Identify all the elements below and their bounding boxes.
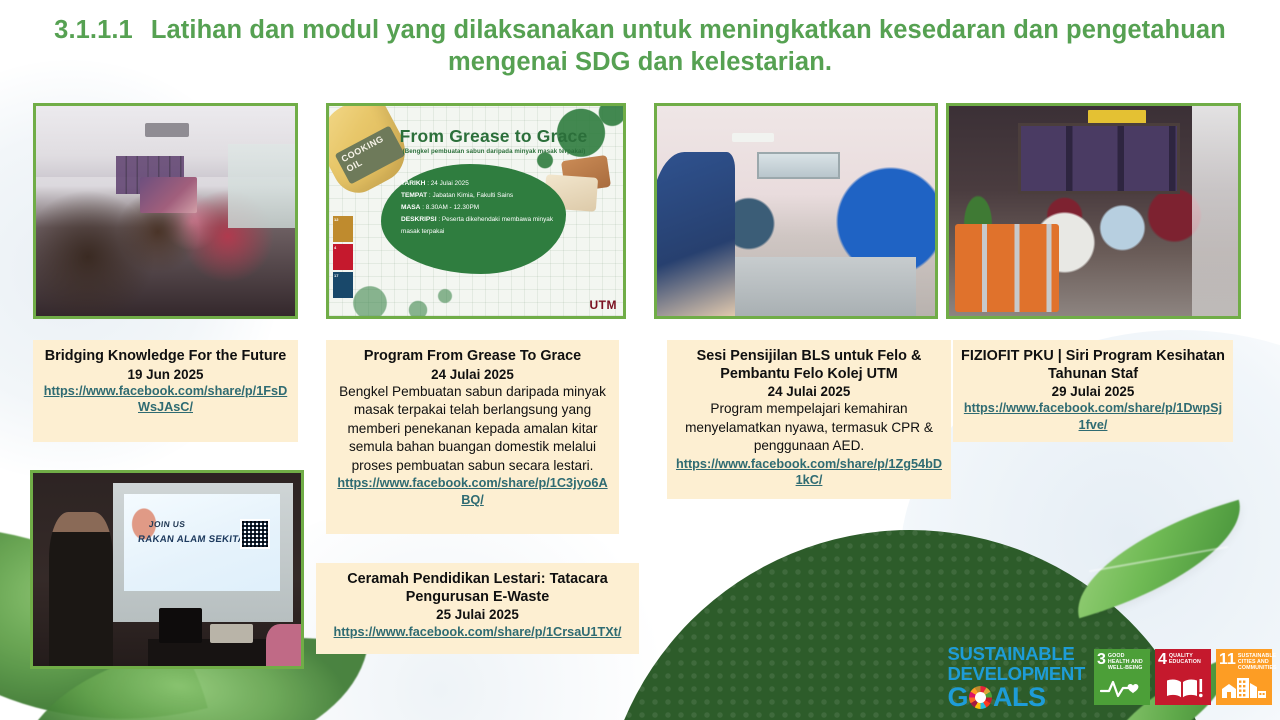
open-book-icon xyxy=(1155,675,1211,701)
sdg-wordmark-als: ALS xyxy=(993,684,1046,710)
caption-title-2: Program From Grease To Grace xyxy=(334,348,611,366)
caption-link-3[interactable]: https://www.facebook.com/share/p/1Zg54bD… xyxy=(675,456,943,489)
poster-field-tempat-label: TEMPAT xyxy=(401,192,427,199)
poster-sdg-4-icon: 4 xyxy=(333,244,353,270)
sdg-goal-3-tile: 3 GOOD HEALTH AND WELL-BEING xyxy=(1094,649,1150,705)
poster-field-deskripsi: DESKRIPSI : Peserta dikehendaki membawa … xyxy=(401,214,571,238)
photo-5-slide-line2: RAKAN ALAM SEKITAR xyxy=(137,535,252,545)
heartbeat-icon xyxy=(1094,675,1150,701)
photo-bridging-knowledge xyxy=(33,103,298,319)
caption-title-1: Bridging Knowledge For the Future xyxy=(41,348,290,366)
photo-4-image xyxy=(949,106,1238,316)
city-buildings-icon xyxy=(1216,675,1272,701)
caption-title-4: FIZIOFIT PKU | Siri Program Kesihatan Ta… xyxy=(961,348,1225,383)
photo-1-projector xyxy=(145,123,189,138)
poster-field-tempat-value: : Jabatan Kimia, Fakulti Sains xyxy=(429,192,513,199)
caption-card-e-waste: Ceramah Pendidikan Lestari: Tatacara Pen… xyxy=(316,563,639,654)
sdg-footer: SUSTAINABLE DEVELOPMENT G ALS 3 GOOD HEA… xyxy=(947,646,1272,708)
photo-3-foreground-person xyxy=(654,152,735,316)
photo-4-chairs xyxy=(955,224,1059,312)
caption-date-3: 24 Julai 2025 xyxy=(675,383,943,400)
page-title-number: 3.1.1.1 xyxy=(54,16,133,44)
photo-5-audience xyxy=(266,624,301,666)
poster-sdg-17-icon: 17 xyxy=(333,272,353,298)
page-title-text: Latihan dan modul yang dilaksanakan untu… xyxy=(151,16,1226,76)
sdg-wordmark-g: G xyxy=(947,684,968,710)
caption-card-fiziofit: FIZIOFIT PKU | Siri Program Kesihatan Ta… xyxy=(953,340,1233,442)
poster-field-tarikh-label: TARIKH xyxy=(401,180,425,187)
poster-field-tempat: TEMPAT : Jabatan Kimia, Fakulti Sains xyxy=(401,190,571,202)
photo-5-table xyxy=(148,639,266,666)
caption-card-bls: Sesi Pensijilan BLS untuk Felo & Pembant… xyxy=(667,340,951,499)
poster-utm-logo: UTM xyxy=(590,298,618,312)
photo-3-ceiling-light xyxy=(732,133,774,141)
caption-link-2[interactable]: https://www.facebook.com/share/p/1C3jyo6… xyxy=(334,475,611,508)
slide-canvas: 3.1.1.1Latihan dan modul yang dilaksanak… xyxy=(0,0,1280,720)
sdg-wordmark-line1: SUSTAINABLE xyxy=(947,644,1085,664)
poster-artwork: COOKING OIL From Grease to Grace (Bengke… xyxy=(329,106,623,316)
photo-fiziofit-pku xyxy=(946,103,1241,319)
photo-1-image xyxy=(36,106,295,316)
photo-3-image xyxy=(657,106,935,316)
caption-link-1[interactable]: https://www.facebook.com/share/p/1FsDWsJ… xyxy=(41,383,290,416)
poster-subhead: (Bengkel pembuatan sabun daripada minyak… xyxy=(389,148,599,155)
photo-5-laptop xyxy=(159,608,202,643)
sdg-goal-4-tile: 4 QUALITY EDUCATION xyxy=(1155,649,1211,705)
photo-5-projected-slide: JOIN US RAKAN ALAM SEKITAR xyxy=(124,494,279,591)
caption-card-bridging-knowledge: Bridging Knowledge For the Future 19 Jun… xyxy=(33,340,298,442)
caption-link-4[interactable]: https://www.facebook.com/share/p/1DwpSj1… xyxy=(961,400,1225,433)
caption-description-3: Program mempelajari kemahiran menyelamat… xyxy=(675,400,943,456)
photo-bls-certification xyxy=(654,103,938,319)
sdg-wordmark: SUSTAINABLE DEVELOPMENT G ALS xyxy=(947,644,1085,710)
sdg-colour-wheel-icon xyxy=(969,686,992,709)
photo-5-slide-line1: JOIN US xyxy=(148,519,186,529)
caption-title-5: Ceramah Pendidikan Lestari: Tatacara Pen… xyxy=(324,571,631,606)
caption-title-3: Sesi Pensijilan BLS untuk Felo & Pembant… xyxy=(675,348,943,383)
caption-date-1: 19 Jun 2025 xyxy=(41,366,290,383)
page-title: 3.1.1.1Latihan dan modul yang dilaksanak… xyxy=(0,14,1280,78)
poster-field-tarikh: TARIKH : 24 Julai 2025 xyxy=(401,178,571,190)
photo-5-speaker xyxy=(49,512,113,666)
photo-1-glass-wall xyxy=(228,144,295,228)
poster-field-masa-label: MASA xyxy=(401,204,420,211)
photo-4-projection-screen xyxy=(1192,106,1238,316)
poster-field-masa: MASA : 8.30AM - 12.30PM xyxy=(401,202,571,214)
photo-ceramah-e-waste: JOIN US RAKAN ALAM SEKITAR xyxy=(30,470,304,669)
caption-description-2: Bengkel Pembuatan sabun daripada minyak … xyxy=(334,383,611,476)
poster-field-tarikh-value: : 24 Julai 2025 xyxy=(427,180,469,187)
poster-details-block: TARIKH : 24 Julai 2025 TEMPAT : Jabatan … xyxy=(401,178,571,238)
caption-date-4: 29 Julai 2025 xyxy=(961,383,1225,400)
photo-4-window xyxy=(1018,123,1180,194)
photo-3-window xyxy=(757,152,840,179)
caption-date-5: 25 Julai 2025 xyxy=(324,606,631,623)
photo-grease-to-grace-poster: COOKING OIL From Grease to Grace (Bengke… xyxy=(326,103,626,319)
photo-5-projector xyxy=(210,624,253,643)
sdg-wordmark-line3: G ALS xyxy=(947,684,1085,710)
photo-5-image: JOIN US RAKAN ALAM SEKITAR xyxy=(33,473,301,666)
poster-sdg-badges: 12 4 17 xyxy=(333,216,353,300)
caption-link-5[interactable]: https://www.facebook.com/share/p/1CrsaU1… xyxy=(334,624,622,641)
sdg-wordmark-line2: DEVELOPMENT xyxy=(947,664,1085,684)
caption-card-grease-to-grace: Program From Grease To Grace 24 Julai 20… xyxy=(326,340,619,534)
sdg-goal-11-tile: 11 SUSTAINABLE CITIES AND COMMUNITIES xyxy=(1216,649,1272,705)
poster-field-masa-value: : 8.30AM - 12.30PM xyxy=(422,204,479,211)
caption-date-2: 24 Julai 2025 xyxy=(334,366,611,383)
poster-sdg-12-icon: 12 xyxy=(333,216,353,242)
photo-1-screen xyxy=(140,177,197,213)
poster-headline: From Grease to Grace xyxy=(391,126,596,147)
qr-code-icon xyxy=(240,519,270,549)
poster-field-deskripsi-label: DESKRIPSI xyxy=(401,216,437,223)
